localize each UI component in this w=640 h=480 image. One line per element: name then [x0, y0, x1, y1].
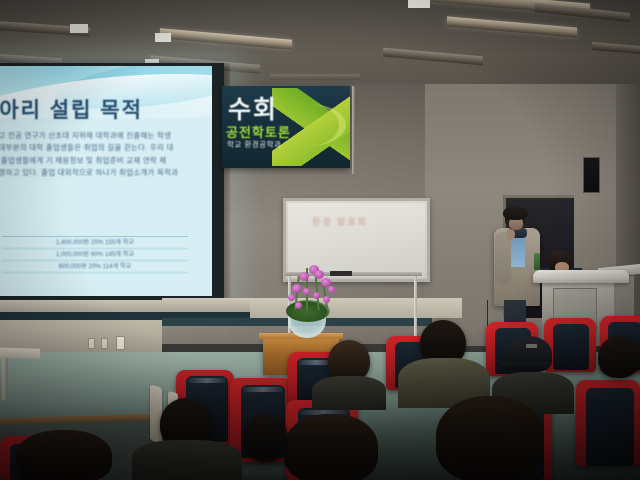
ceiling-light-fixture — [270, 74, 360, 80]
slide-table-row: 1,000,000원 60% 145개 학교 — [2, 249, 188, 261]
wall-banner: 수회 공전학토론 학교 환경공학과 — [222, 86, 350, 168]
projection-screen: 동아리 설립 목적 현재 고 전공 연구가 산초대 지위해 대학과에 진출해는 … — [0, 63, 224, 301]
whiteboard-surface[interactable]: 환경 발표회 — [288, 203, 425, 277]
slide-table-row: 1,400,000원 20% 155개 학교 — [2, 237, 188, 249]
presenter-hand — [506, 229, 515, 240]
slide-body-line: 고는 대부분의 대학 졸업생들은 취업의 길을 걷는다. 우리 대 — [0, 142, 210, 154]
ceiling-light-fixture — [160, 28, 292, 50]
banner-pole — [352, 86, 355, 174]
wall-speaker-icon — [583, 157, 600, 193]
outlet-icon — [88, 338, 95, 349]
whiteboard-leg — [414, 276, 417, 338]
slide-table-row: 600,000원 20% 114개 학교 — [2, 261, 188, 273]
podium-top — [533, 270, 629, 283]
ceiling-light-fixture — [415, 0, 590, 16]
banner-title: 수회 — [228, 90, 278, 126]
cap-logo-icon — [526, 344, 537, 348]
audience-head — [436, 396, 544, 480]
projection-screen-surface: 동아리 설립 목적 현재 고 전공 연구가 산초대 지위해 대학과에 진출해는 … — [0, 66, 212, 296]
ceiling-light-fixture — [383, 48, 483, 66]
audience-head — [16, 430, 112, 480]
ceiling-light-end-cap — [155, 33, 171, 42]
orchid-foliage — [286, 300, 330, 322]
ceiling-light-fixture — [0, 21, 90, 37]
ceiling-light-fixture — [535, 3, 630, 22]
slide-body-line: 현재 고 전공 연구가 산초대 지위해 대학과에 진출해는 학생 — [0, 130, 210, 142]
orchid-bloom — [323, 296, 330, 303]
orchid-bloom — [292, 284, 302, 293]
orchid-bloom — [328, 286, 335, 293]
presenter-hair — [503, 206, 528, 220]
water-bottle[interactable] — [534, 253, 540, 270]
orchid-bloom — [313, 292, 320, 299]
audience-head — [598, 336, 640, 378]
slide-title: 동아리 설립 목적 — [0, 94, 208, 124]
audience-head — [244, 414, 288, 462]
side-table-leg — [2, 358, 8, 400]
whiteboard-eraser[interactable] — [330, 271, 352, 276]
audience-shoulders — [312, 376, 386, 410]
ceiling-light-end-cap — [408, 0, 430, 8]
ceiling-light-fixture — [592, 42, 640, 54]
ceiling-light-fixture — [447, 16, 577, 37]
banner-department: 학교 환경공학과 — [227, 139, 281, 150]
outlet-icon — [116, 336, 125, 350]
orchid-bloom — [299, 272, 309, 281]
whiteboard-writing: 환경 발표회 — [312, 215, 413, 228]
orchid-bloom — [295, 302, 302, 309]
ceiling-light-end-cap — [70, 24, 88, 33]
slide-body-text: 현재 고 전공 연구가 산초대 지위해 대학과에 진출해는 학생 고는 대부분의… — [0, 130, 210, 180]
orchid-bloom — [288, 294, 295, 301]
slide-table: 1,400,000원 20% 155개 학교 1,000,000원 60% 14… — [2, 236, 188, 273]
audience-shoulders — [132, 440, 242, 480]
slide-body-line: 행 및 졸업생들에게 기 채용정보 및 취업준비 교재 연락 체 — [0, 155, 210, 167]
audience-head — [284, 414, 378, 480]
orchid-bloom — [303, 288, 310, 295]
seat-armrest — [150, 384, 162, 443]
lecture-hall-photo: 동아리 설립 목적 현재 고 전공 연구가 산초대 지위해 대학과에 진출해는 … — [0, 0, 640, 480]
outlet-icon — [101, 338, 108, 349]
slide-body-line: 로 운영하고 있다. 졸업 대외적으로 하나가 취업소개가 목적과 — [0, 167, 210, 179]
wall-panel-strip — [0, 300, 250, 312]
cap-brim-icon — [500, 362, 548, 369]
